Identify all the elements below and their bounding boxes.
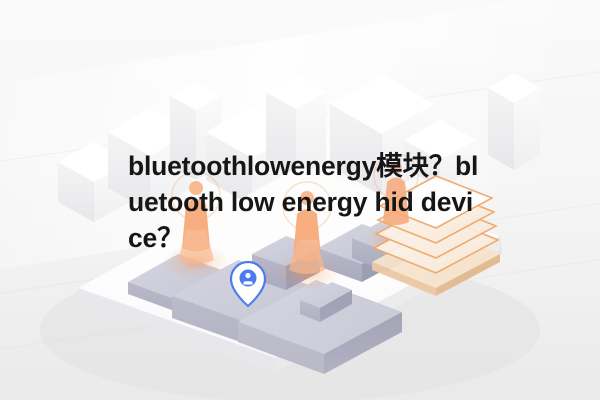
cover-image: bluetoothlowenergy模块？bluetooth low energ… <box>0 0 600 400</box>
tower-7 <box>488 73 540 170</box>
page-title: bluetoothlowenergy模块？bluetooth low energ… <box>128 148 484 256</box>
